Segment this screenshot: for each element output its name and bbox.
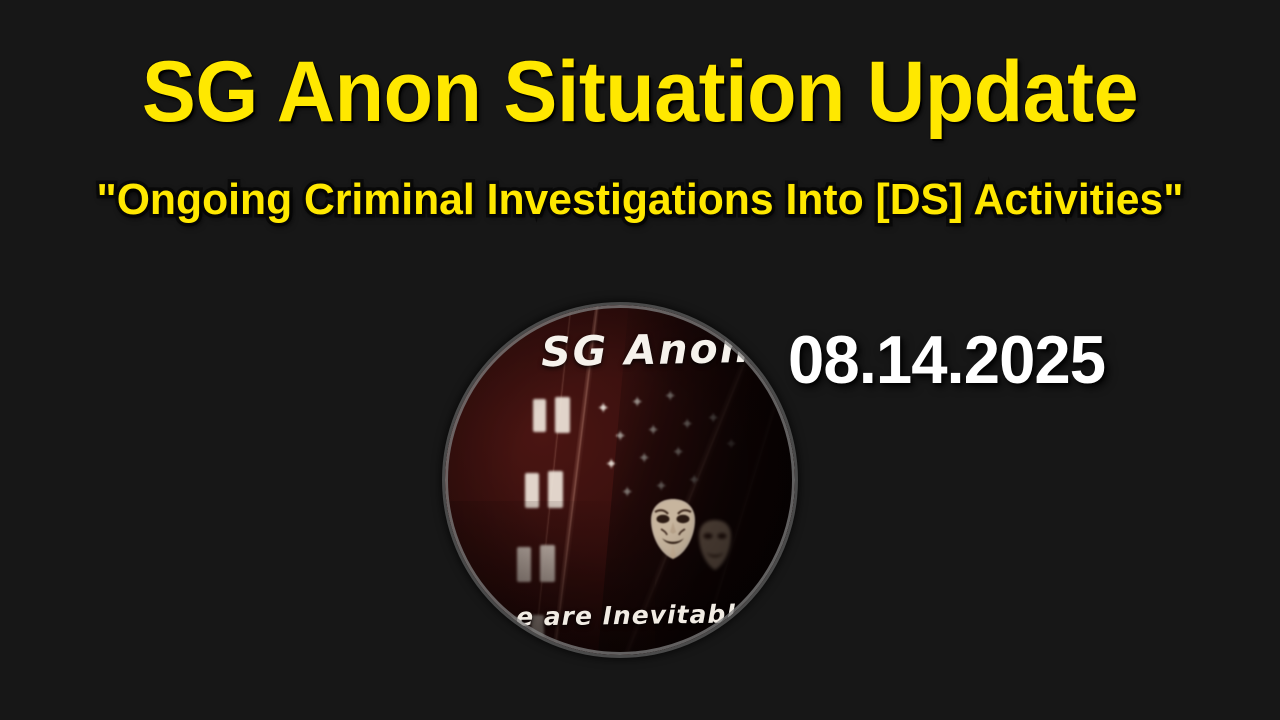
avatar-top-label: SG Anon — [471, 323, 795, 376]
page-title: SG Anon Situation Update — [38, 44, 1241, 140]
avatar-bottom-label: e are Inevitabl — [451, 599, 795, 634]
date-label: 08.14.2025 — [788, 323, 1105, 397]
page-subtitle: "Ongoing Criminal Investigations Into [D… — [19, 172, 1261, 228]
thumbnail-canvas: SG Anon Situation Update "Ongoing Crimin… — [0, 0, 1280, 720]
avatar: ✦✦✦✦✦✦✦✦✦✦✦✦✦✦ — [445, 305, 795, 655]
avatar-image: ✦✦✦✦✦✦✦✦✦✦✦✦✦✦ — [445, 305, 795, 655]
